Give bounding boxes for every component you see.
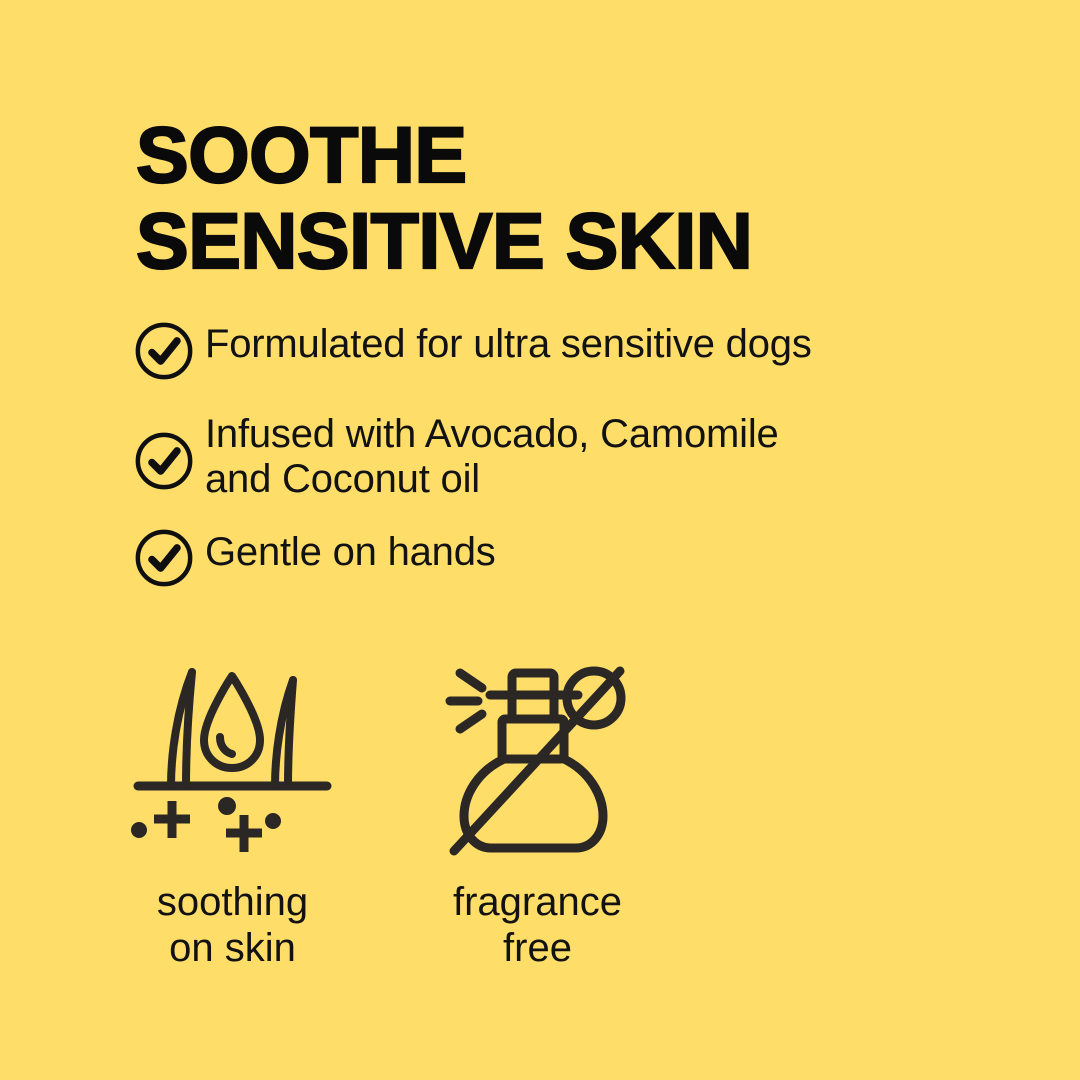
check-circle-icon [133, 430, 195, 492]
skin-hair-droplet-icon [130, 650, 335, 865]
list-item-label: Gentle on hands [195, 526, 496, 575]
list-item: Gentle on hands [133, 526, 1033, 589]
feature-label: soothing on skin [157, 879, 308, 971]
page-title-line-1: SOOTHE [136, 112, 996, 198]
feature-soothing-on-skin: soothing on skin [130, 650, 335, 971]
check-circle-icon [133, 320, 195, 382]
list-item-label: Infused with Avocado, Camomile and Cocon… [195, 408, 779, 502]
check-circle-icon [133, 527, 195, 589]
list-item: Infused with Avocado, Camomile and Cocon… [133, 408, 1033, 502]
feature-label: fragrance free [453, 879, 622, 971]
feature-icon-row: soothing on skin [130, 650, 640, 971]
list-item-label: Formulated for ultra sensitive dogs [195, 318, 812, 367]
benefits-list: Formulated for ultra sensitive dogs Infu… [133, 318, 1033, 589]
page-title: SOOTHE SENSITIVE SKIN [136, 112, 996, 284]
list-item: Formulated for ultra sensitive dogs [133, 318, 1033, 382]
product-benefits-card: SOOTHE SENSITIVE SKIN Formulated for ult… [0, 0, 1080, 1080]
no-fragrance-bottle-icon [438, 650, 638, 865]
feature-fragrance-free: fragrance free [435, 650, 640, 971]
page-title-line-2: SENSITIVE SKIN [136, 198, 996, 284]
